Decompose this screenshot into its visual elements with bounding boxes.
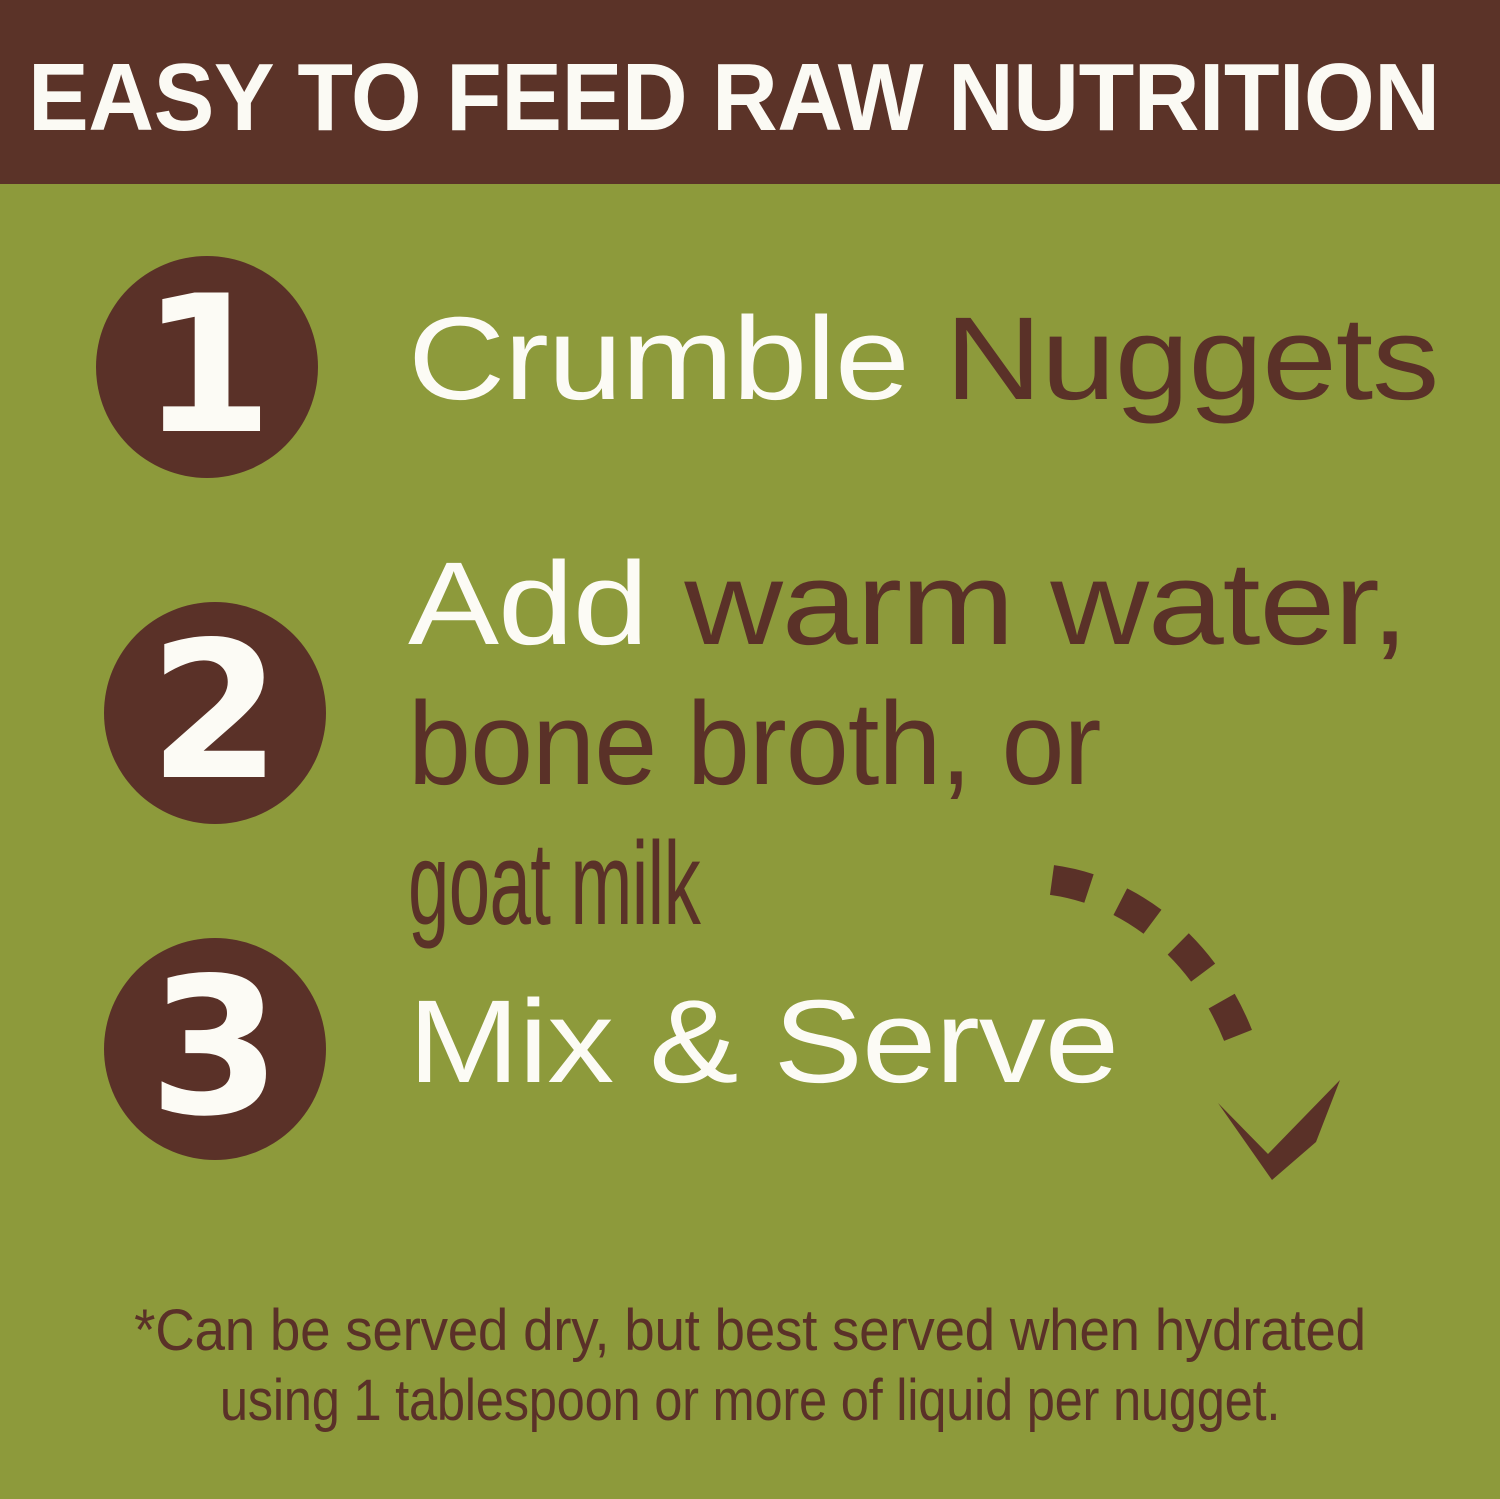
- footnote-line-2: using 1 tablespoon or more of liquid per…: [95, 1366, 1405, 1436]
- step-item-2: 2 Add warm water, bone broth, or goat mi…: [0, 534, 1500, 954]
- step-item-3: 3 Mix & Serve: [0, 924, 1500, 1184]
- footnote: *Can be served dry, but best served when…: [0, 1296, 1500, 1436]
- step-2-line-1: Add warm water,: [408, 534, 1408, 674]
- step-2-segment-1: Add: [408, 538, 684, 670]
- feeding-instructions-poster: EASY TO FEED RAW NUTRITION 1 Crumble Nug…: [0, 0, 1500, 1499]
- steps-list: 1 Crumble Nuggets 2 Add warm water, bone…: [0, 184, 1500, 1184]
- footnote-line-1: *Can be served dry, but best served when…: [41, 1296, 1459, 1366]
- page-title: EASY TO FEED RAW NUTRITION: [28, 50, 1375, 146]
- step-1-segment-2: Nuggets: [945, 293, 1438, 425]
- step-text-3: Mix & Serve: [408, 972, 1118, 1112]
- step-text-1: Crumble Nuggets: [408, 289, 1438, 429]
- step-number-badge-3: 3: [104, 938, 326, 1160]
- step-number-badge-2: 2: [104, 602, 326, 824]
- step-number-badge-1: 1: [96, 256, 318, 478]
- step-text-2: Add warm water, bone broth, or goat milk: [408, 534, 1272, 954]
- step-2-line-2: bone broth, or: [408, 674, 1238, 814]
- header-band: EASY TO FEED RAW NUTRITION: [0, 0, 1500, 184]
- step-1-segment-1: Crumble: [408, 293, 945, 425]
- step-2-segment-2: warm water,: [684, 538, 1407, 670]
- step-item-1: 1 Crumble Nuggets: [0, 184, 1500, 504]
